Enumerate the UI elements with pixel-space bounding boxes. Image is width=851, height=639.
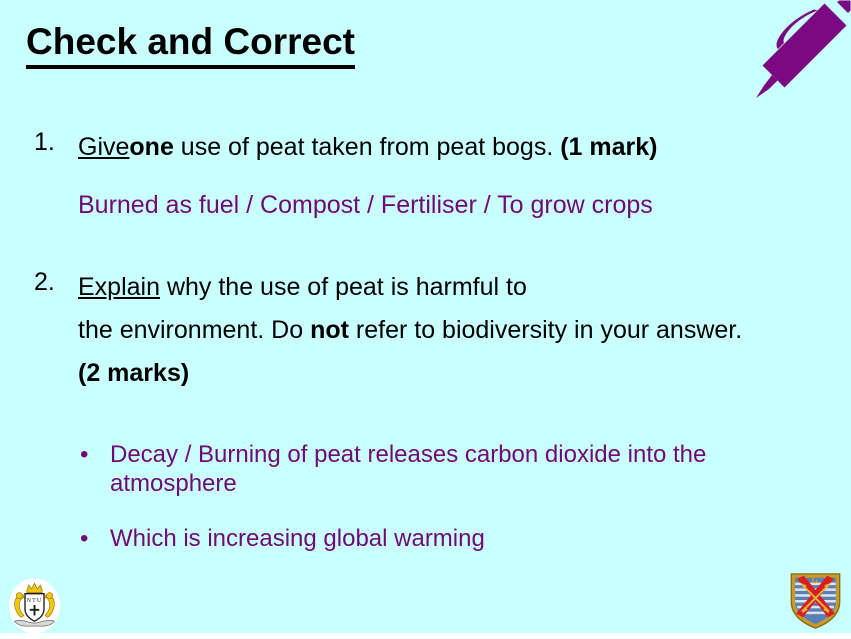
question-2-command-word: Explain xyxy=(78,273,160,301)
bottom-white-strip xyxy=(0,633,851,639)
question-1-text: use of peat taken from peat bogs. xyxy=(174,133,560,161)
question-2-answer-bullet-1-text: Decay / Burning of peat releases carbon … xyxy=(110,440,760,498)
question-2-line-2-post: refer to biodiversity in your answer. xyxy=(349,316,742,344)
question-2-prompt: Explain why the use of peat is harmful t… xyxy=(78,266,742,395)
bullet-point-icon: • xyxy=(80,440,88,469)
question-2-emphasis: not xyxy=(310,316,349,344)
question-2-answer-bullet-2-text: Which is increasing global warming xyxy=(110,524,760,553)
school-shield-crest-icon xyxy=(788,570,843,630)
question-2-line-1-text: why the use of peat is harmful to xyxy=(160,273,527,301)
pen-icon xyxy=(751,0,851,100)
question-2-marks: (2 marks) xyxy=(78,352,742,395)
question-1-marks: (1 mark) xyxy=(560,133,657,161)
question-1-number: 1. xyxy=(34,126,55,158)
question-1-answer: Burned as fuel / Compost / Fertiliser / … xyxy=(78,190,653,220)
bullet-point-icon: • xyxy=(80,524,88,553)
page-title: Check and Correct xyxy=(26,20,355,69)
question-2-prompt-line-1: Explain why the use of peat is harmful t… xyxy=(78,266,742,309)
question-1-command-word: Give xyxy=(78,133,129,161)
question-2-number: 2. xyxy=(34,266,55,298)
question-2-prompt-line-2: the environment. Do not refer to biodive… xyxy=(78,309,742,352)
question-1-prompt: Giveone use of peat taken from peat bogs… xyxy=(78,126,657,169)
svg-text:NTU: NTU xyxy=(27,598,43,604)
question-2-line-2-pre: the environment. Do xyxy=(78,316,310,344)
slide-canvas: Check and Correct 1. Giveone use of peat… xyxy=(0,0,851,639)
question-1-emphasis: one xyxy=(129,133,173,161)
ntu-university-crest-icon: NTU xyxy=(6,577,63,635)
